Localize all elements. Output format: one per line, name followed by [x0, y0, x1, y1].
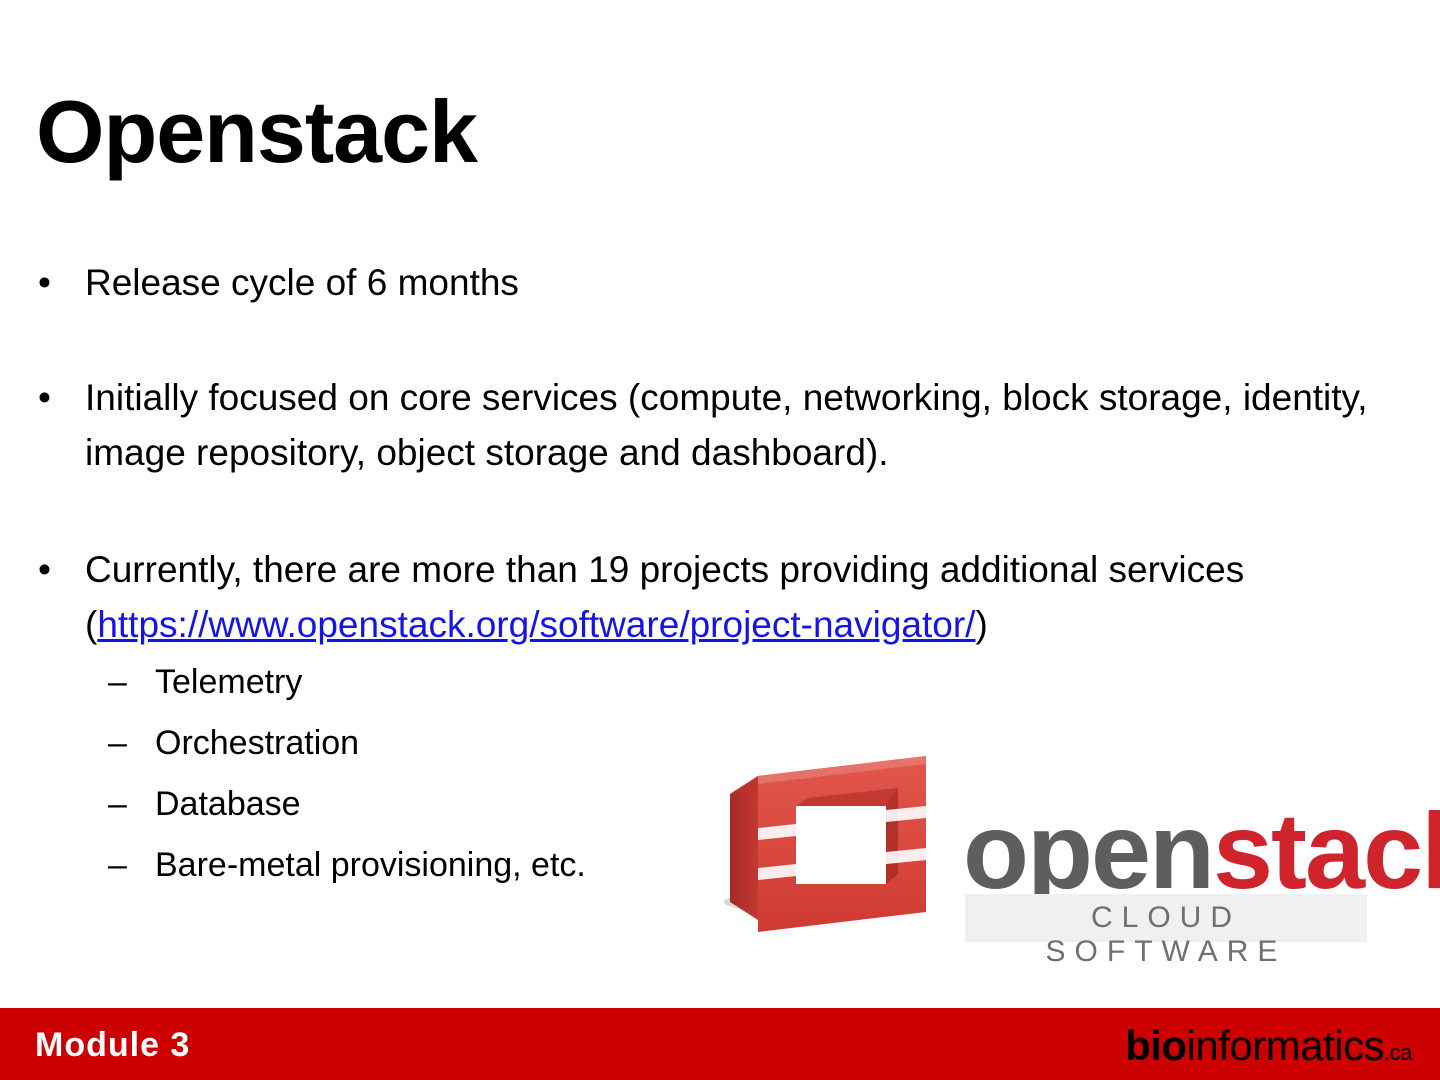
spacer [0, 310, 1440, 370]
bullet-text-suffix: ) [975, 604, 987, 645]
openstack-cube-icon [718, 742, 948, 947]
openstack-logo: openstack™ CLOUD SOFTWARE [718, 742, 1390, 954]
bullet-item-3: • Currently, there are more than 19 proj… [0, 542, 1440, 652]
sub-bullet-text: Orchestration [155, 724, 359, 762]
wordmark-open: open [963, 790, 1213, 911]
bullet-marker: • [38, 255, 51, 310]
module-label: Module 3 [35, 1026, 190, 1065]
sub-bullet-text: Telemetry [155, 663, 302, 701]
spacer [0, 480, 1440, 542]
sub-bullet-marker: – [108, 835, 127, 896]
bullet-text: Initially focused on core services (comp… [85, 377, 1368, 473]
openstack-wordmark: openstack™ [963, 790, 1440, 903]
bullet-text: Release cycle of 6 months [85, 262, 519, 303]
page-title: Openstack [36, 88, 477, 176]
sub-bullet-marker: – [108, 652, 127, 713]
bullet-marker: • [38, 370, 51, 425]
logo-tagline: CLOUD SOFTWARE [965, 901, 1367, 969]
brand-bio: bio [1125, 1022, 1186, 1069]
sub-bullet-marker: – [108, 713, 127, 774]
sub-bullet-marker: – [108, 774, 127, 835]
project-navigator-link[interactable]: https://www.openstack.org/software/proje… [97, 604, 975, 645]
bullet-marker: • [38, 542, 51, 597]
wordmark-stack: stack [1213, 790, 1440, 911]
brand-informatics: informatics [1187, 1022, 1385, 1069]
bullet-item-1: • Release cycle of 6 months [0, 255, 1440, 310]
brand-tld: .ca [1384, 1040, 1412, 1065]
bullet-item-2: • Initially focused on core services (co… [0, 370, 1440, 480]
slide-canvas: Openstack • Release cycle of 6 months • … [0, 0, 1440, 1080]
bioinformatics-logo: bioinformatics.ca [1125, 1022, 1412, 1070]
logo-tagline-band: CLOUD SOFTWARE [965, 894, 1367, 942]
sub-bullet-item-telemetry: – Telemetry [0, 652, 1440, 713]
sub-bullet-text: Bare-metal provisioning, etc. [155, 846, 586, 884]
footer-bar: Module 3 bioinformatics.ca [0, 1008, 1440, 1080]
sub-bullet-text: Database [155, 785, 301, 823]
